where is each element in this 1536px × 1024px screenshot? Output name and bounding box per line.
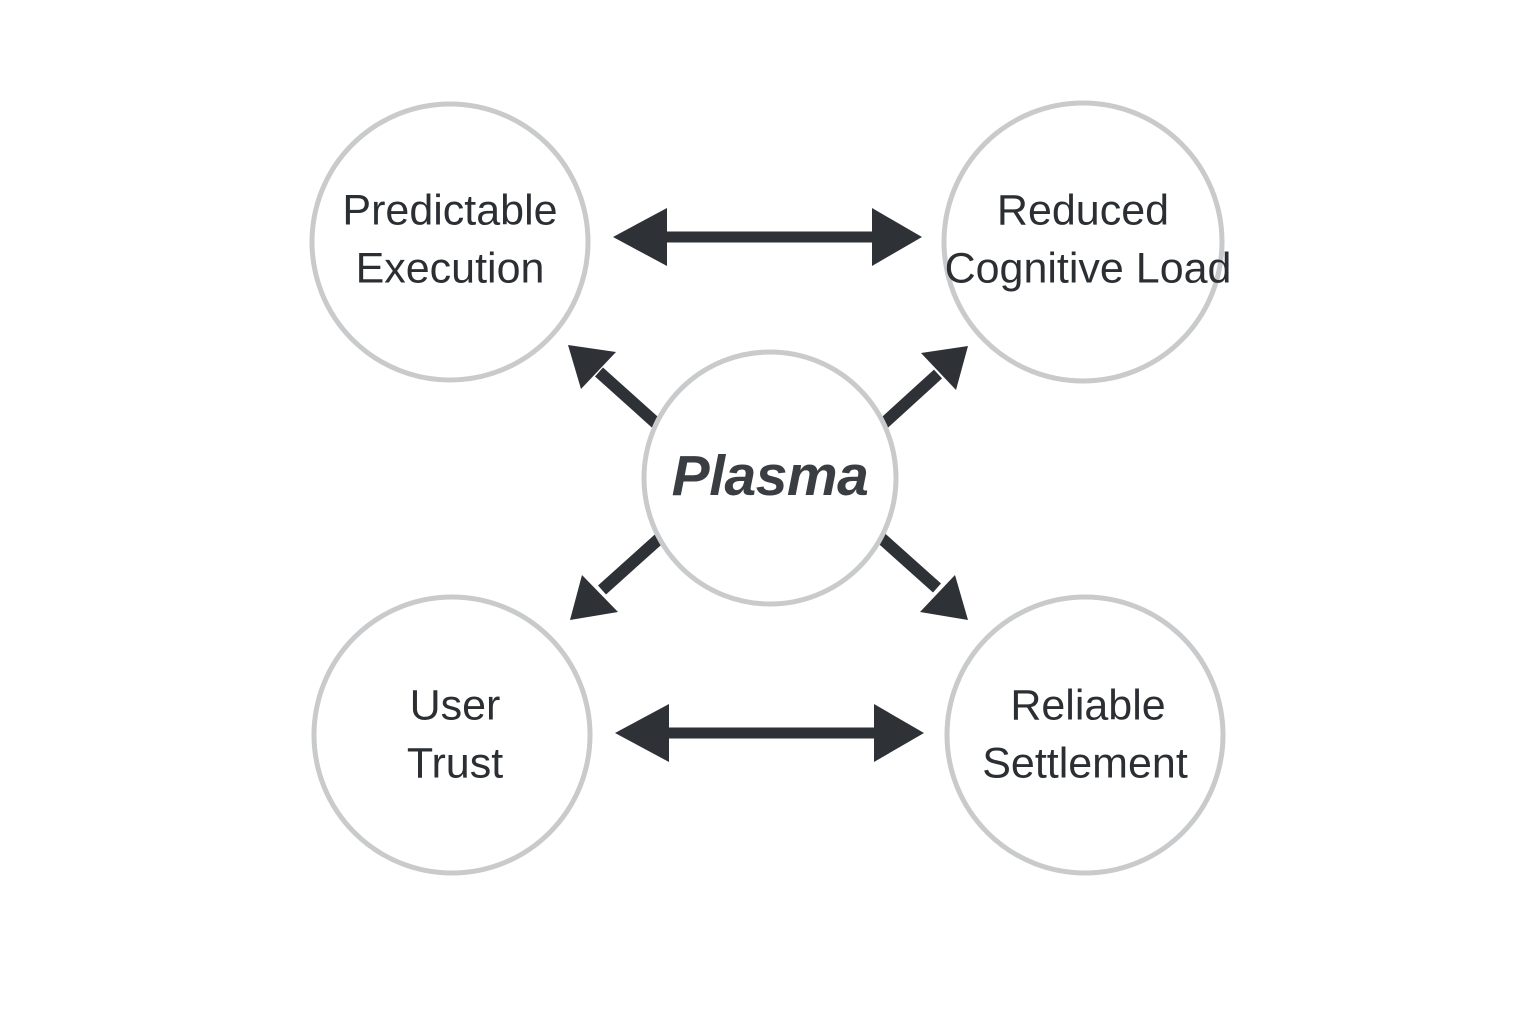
node-label-line1: User (410, 681, 501, 729)
node-label-line1: Predictable (342, 186, 557, 234)
node-circle-outline (947, 597, 1223, 873)
node-label-line2: Settlement (982, 739, 1188, 787)
node-label-line1: Reduced (997, 186, 1169, 234)
connector-user-trust-to-reliable-settlement (615, 704, 924, 762)
arrow-head-left-icon (613, 208, 667, 266)
connector-plasma-to-predictable-execution (568, 345, 658, 425)
node-label-line1: Reliable (1010, 681, 1165, 729)
node-label-line2: Cognitive Load (945, 244, 1232, 292)
node-circle-outline (944, 103, 1222, 381)
connector-shaft (602, 537, 661, 590)
connector-plasma-to-user-trust (570, 537, 661, 620)
node-plasma-center[interactable]: Plasma (644, 352, 896, 604)
arrow-head-right-icon (874, 704, 924, 762)
connector-shaft (882, 374, 938, 425)
arrow-head-right-icon (872, 208, 922, 266)
node-reduced-cognitive-load[interactable]: Reduced Cognitive Load (944, 103, 1231, 381)
node-predictable-execution[interactable]: Predictable Execution (312, 104, 588, 380)
arrow-head-left-icon (615, 704, 669, 762)
plasma-brand-label: Plasma (672, 444, 869, 508)
connector-shaft (880, 537, 937, 588)
node-circle-outline (312, 104, 588, 380)
connector-shaft (599, 372, 658, 425)
connector-predictable-execution-to-reduced-cognitive-load (613, 208, 922, 266)
diagram-canvas: Predictable Execution Reduced Cognitive … (0, 0, 1536, 1024)
connector-plasma-to-reduced-cognitive-load (882, 346, 968, 425)
node-user-trust[interactable]: User Trust (314, 597, 590, 873)
node-reliable-settlement[interactable]: Reliable Settlement (947, 597, 1223, 873)
node-label-line2: Execution (356, 244, 545, 292)
node-circle-outline (314, 597, 590, 873)
connector-plasma-to-reliable-settlement (880, 537, 968, 620)
node-label-line2: Trust (407, 739, 503, 787)
plasma-relationship-diagram: Predictable Execution Reduced Cognitive … (0, 0, 1536, 1024)
